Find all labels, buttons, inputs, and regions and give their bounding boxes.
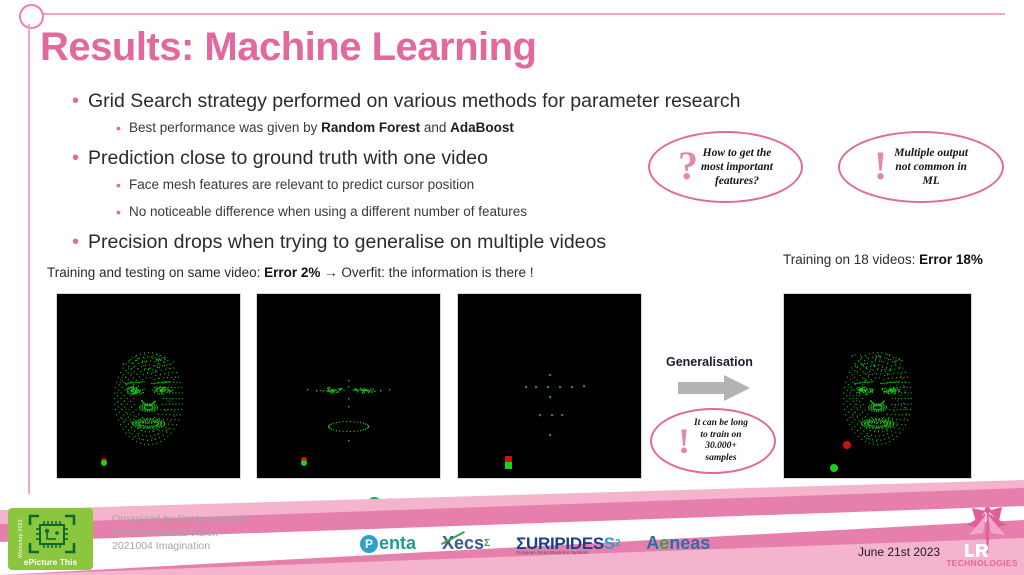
target-dot [101,460,107,466]
generalisation-label: Generalisation [666,355,753,369]
bullet-text: Precision drops when trying to generalis… [88,229,606,255]
callout-line: most important [701,161,773,173]
callout-text: Multiple output not common in ML [894,146,968,188]
callout-multiple-output: ! Multiple output not common in ML [838,131,1004,203]
face-mesh-svg [784,294,971,478]
epicture-label: ePicture This [8,557,93,567]
euripides-sup: 2 [615,538,620,549]
bullet-marker: • [116,175,129,195]
face-mesh-svg [458,294,641,478]
citation-after: 45, 5–32 (2001) [531,514,608,526]
sub-bullet-bold-random-forest: Random Forest [321,120,420,135]
callout-line: features? [715,175,759,187]
caption-error-18: Error 18% [919,252,983,267]
bullet-marker: • [72,88,88,114]
xecs-sigma: Σ [484,538,490,549]
face-mesh-sparse-features [457,293,642,479]
citation: Breiman, L. Random Forests. Machine Lear… [307,514,608,526]
caption-suffix: → Overfit: the information is there ! [320,265,533,280]
callout-line: to train on [700,430,741,440]
exclamation-mark-icon: ! [874,146,887,186]
euripides-subtitle: European Smart Electronic Systems [516,550,588,555]
callout-line: It can be long [694,418,748,428]
company-sub-label: GROUPE [940,568,1024,574]
legend-label: Prediction [512,495,580,511]
callout-line: 30.000+ [705,441,737,451]
target-dot [301,460,307,466]
callout-text: How to get the most important features? [701,146,773,188]
bullet-item-precision-drops: • Precision drops when trying to general… [72,229,852,255]
legend-item-target: Target [368,495,430,511]
face-mesh-full-features [56,293,241,479]
target-dot [830,464,838,472]
callout-training-time: ! It can be long to train on 30.000+ sam… [650,408,776,474]
target-dot [505,462,512,469]
penta-projects-note: Organized by Penta projects: 2020005 Man… [112,513,247,554]
chip-icon [26,512,78,556]
company-label: TECHNOLOGIES [946,558,1018,568]
bullet-marker: • [72,145,88,171]
exclamation-mark-icon: ! [678,423,690,459]
penta-note-line: 2021004 Imagination [112,540,247,554]
penta-note-line: Organized by Penta projects: [112,513,247,527]
legend: Target Prediction [368,495,580,511]
callout-line: not common in [895,161,967,173]
partner-logo-aeneas: Aeneas [646,533,710,554]
callout-line: How to get the [703,147,772,159]
face-mesh-generalised [783,293,972,479]
generalisation-arrow-icon [678,375,750,401]
sub-bullet-middle: and [420,120,450,135]
callout-line: ML [923,175,940,187]
left-divider-line [28,24,30,494]
target-color-swatch [368,497,381,510]
bullet-item-grid-search: • Grid Search strategy performed on vari… [72,88,852,114]
legend-label: Target [388,495,430,511]
partner-logo-penta: Penta [360,533,416,554]
penta-badge: P [360,535,378,553]
bullet-text: No noticeable difference when using a di… [129,202,527,222]
sub-bullet-prefix: Best performance was given by [129,120,321,135]
prediction-color-swatch [492,497,505,510]
callout-how-to-get-features: ? How to get the most important features… [648,131,803,203]
caption-prefix: Training and testing on same video: [47,265,264,280]
aeneas-text: neas [669,533,710,554]
face-mesh-svg [57,294,240,478]
caption-error-2: Error 2% [264,265,320,280]
aeneas-badge: A [646,533,659,554]
page-title: Results: Machine Learning [40,25,536,70]
bullet-item-no-difference: • No noticeable difference when using a … [116,202,852,222]
bullet-marker: • [116,118,129,138]
slide: Results: Machine Learning • Grid Search … [0,0,1024,575]
bullet-text: Grid Search strategy performed on variou… [88,88,740,114]
partner-logos: Penta XecsΣ ΣURIPIDESS2 European Smart E… [360,533,710,554]
bullet-marker: • [72,229,88,255]
workshop-year-label: Workshop 2023 [18,514,24,558]
top-divider-line [40,13,1005,15]
prediction-dot [843,441,851,449]
epicture-this-logo: Workshop 2023 ePicture This [8,508,93,570]
face-mesh-reduced-features [256,293,441,479]
face-mesh-svg [257,294,440,478]
partner-logo-euripides: ΣURIPIDESS2 European Smart Electronic Sy… [516,534,620,554]
bullet-marker: • [116,202,129,222]
question-mark-icon: ? [678,146,698,186]
caption-same-video: Training and testing on same video: Erro… [47,265,534,280]
partner-logo-xecs: XecsΣ [442,533,490,554]
callout-text: It can be long to train on 30.000+ sampl… [694,418,748,464]
bullet-text: Prediction close to ground truth with on… [88,145,488,171]
caption-prefix: Training on 18 videos: [783,252,919,267]
citation-before: Breiman, L. Random Forests. [307,514,446,526]
callout-line: samples [705,453,736,463]
slide-date: June 21st 2023 [858,545,940,559]
caption-18-videos: Training on 18 videos: Error 18% [783,252,983,267]
citation-journal: Machine Learning [446,514,531,526]
bullet-text: Face mesh features are relevant to predi… [129,175,474,195]
company-name: TECHNOLOGIESGROUPE [940,558,1024,574]
callout-line: Multiple output [894,147,968,159]
penta-note-line: 2020005 Mantis Vision [112,527,247,541]
legend-item-prediction: Prediction [492,495,580,511]
penta-text: enta [379,533,416,554]
lr-monogram-icon [963,543,989,559]
aeneas-ring: e [659,533,669,554]
bullet-text: Best performance was given by Random For… [129,118,514,138]
sub-bullet-bold-adaboost: AdaBoost [450,120,514,135]
